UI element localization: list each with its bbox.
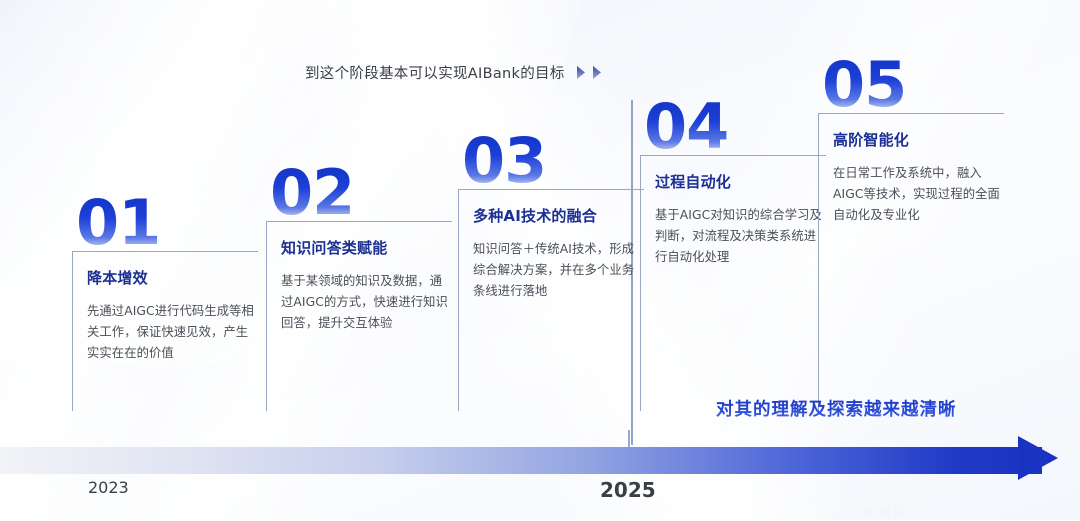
phase-bracket: 知识问答类赋能 基于某领域的知识及数据，通过AIGC的方式，快速进行知识回答，提… bbox=[266, 221, 452, 411]
headline-note: 到这个阶段基本可以实现AIBank的目标 bbox=[305, 62, 605, 83]
phase-title: 过程自动化 bbox=[655, 173, 826, 192]
phase-number: 02 bbox=[266, 166, 452, 219]
phase-body: 在日常工作及系统中，融入AIGC等技术，实现过程的全面自动化及专业化 bbox=[833, 163, 1004, 226]
phase-number: 05 bbox=[818, 58, 1004, 111]
timeline-tick-2025 bbox=[628, 430, 630, 447]
phase-bracket: 高阶智能化 在日常工作及系统中，融入AIGC等技术，实现过程的全面自动化及专业化 bbox=[818, 113, 1004, 411]
right-arrow-icon bbox=[1018, 436, 1058, 480]
phase-bracket: 降本增效 先通过AIGC进行代码生成等相关工作，保证快速见效，产生实实在在的价值 bbox=[72, 251, 258, 411]
phase-number: 01 bbox=[72, 196, 258, 249]
headline-note-text: 到这个阶段基本可以实现AIBank的目标 bbox=[305, 62, 565, 83]
phase-card-03[interactable]: 03 多种AI技术的融合 知识问答＋传统AI技术，形成综合解决方案，并在多个业务… bbox=[458, 134, 644, 411]
timeline-label-milestone: 2025 bbox=[600, 478, 656, 502]
timeline-bar bbox=[0, 447, 1042, 474]
phase-title: 降本增效 bbox=[87, 269, 258, 288]
phase-bracket: 多种AI技术的融合 知识问答＋传统AI技术，形成综合解决方案，并在多个业务条线进… bbox=[458, 189, 644, 411]
phase-bracket: 过程自动化 基于AIGC对知识的综合学习及判断，对流程及决策类系统进行自动化处理 bbox=[640, 155, 826, 411]
tagline: 对其的理解及探索越来越清晰 bbox=[716, 396, 957, 421]
phase-card-01[interactable]: 01 降本增效 先通过AIGC进行代码生成等相关工作，保证快速见效，产生实实在在… bbox=[72, 196, 258, 411]
phase-title: 知识问答类赋能 bbox=[281, 239, 452, 258]
double-chevron-right-icon bbox=[574, 64, 605, 81]
phase-card-04[interactable]: 04 过程自动化 基于AIGC对知识的综合学习及判断，对流程及决策类系统进行自动… bbox=[640, 100, 826, 411]
phase-number: 04 bbox=[640, 100, 826, 153]
timeline-axis bbox=[0, 443, 1080, 487]
phase-body: 基于某领域的知识及数据，通过AIGC的方式，快速进行知识回答，提升交互体验 bbox=[281, 271, 452, 334]
phase-body: 基于AIGC对知识的综合学习及判断，对流程及决策类系统进行自动化处理 bbox=[655, 205, 826, 268]
phase-card-02[interactable]: 02 知识问答类赋能 基于某领域的知识及数据，通过AIGC的方式，快速进行知识回… bbox=[266, 166, 452, 411]
timeline-label-start: 2023 bbox=[88, 478, 129, 497]
phase-title: 高阶智能化 bbox=[833, 131, 1004, 150]
phase-title: 多种AI技术的融合 bbox=[473, 207, 644, 226]
slide-canvas: 到这个阶段基本可以实现AIBank的目标 01 降本增效 先通过AIGC进行代码… bbox=[0, 0, 1080, 520]
phase-body: 知识问答＋传统AI技术，形成综合解决方案，并在多个业务条线进行落地 bbox=[473, 239, 644, 302]
phase-body: 先通过AIGC进行代码生成等相关工作，保证快速见效，产生实实在在的价值 bbox=[87, 301, 258, 364]
phase-number: 03 bbox=[458, 134, 644, 187]
phase-card-05[interactable]: 05 高阶智能化 在日常工作及系统中，融入AIGC等技术，实现过程的全面自动化及… bbox=[818, 58, 1004, 411]
